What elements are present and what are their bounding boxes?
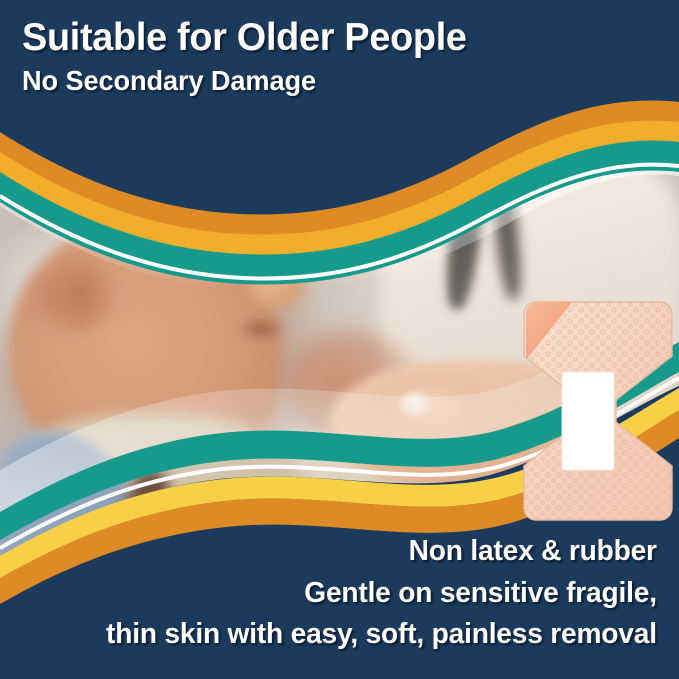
elderly-man-mouth: [238, 318, 284, 340]
fingernail-detail: [400, 392, 430, 416]
caregiver-hand: [330, 360, 600, 490]
product-banner: Suitable for Older People No Secondary D…: [0, 0, 679, 679]
elderly-man-ear: [48, 255, 110, 333]
background-photo: [0, 0, 679, 679]
elderly-man-nose: [248, 250, 306, 310]
